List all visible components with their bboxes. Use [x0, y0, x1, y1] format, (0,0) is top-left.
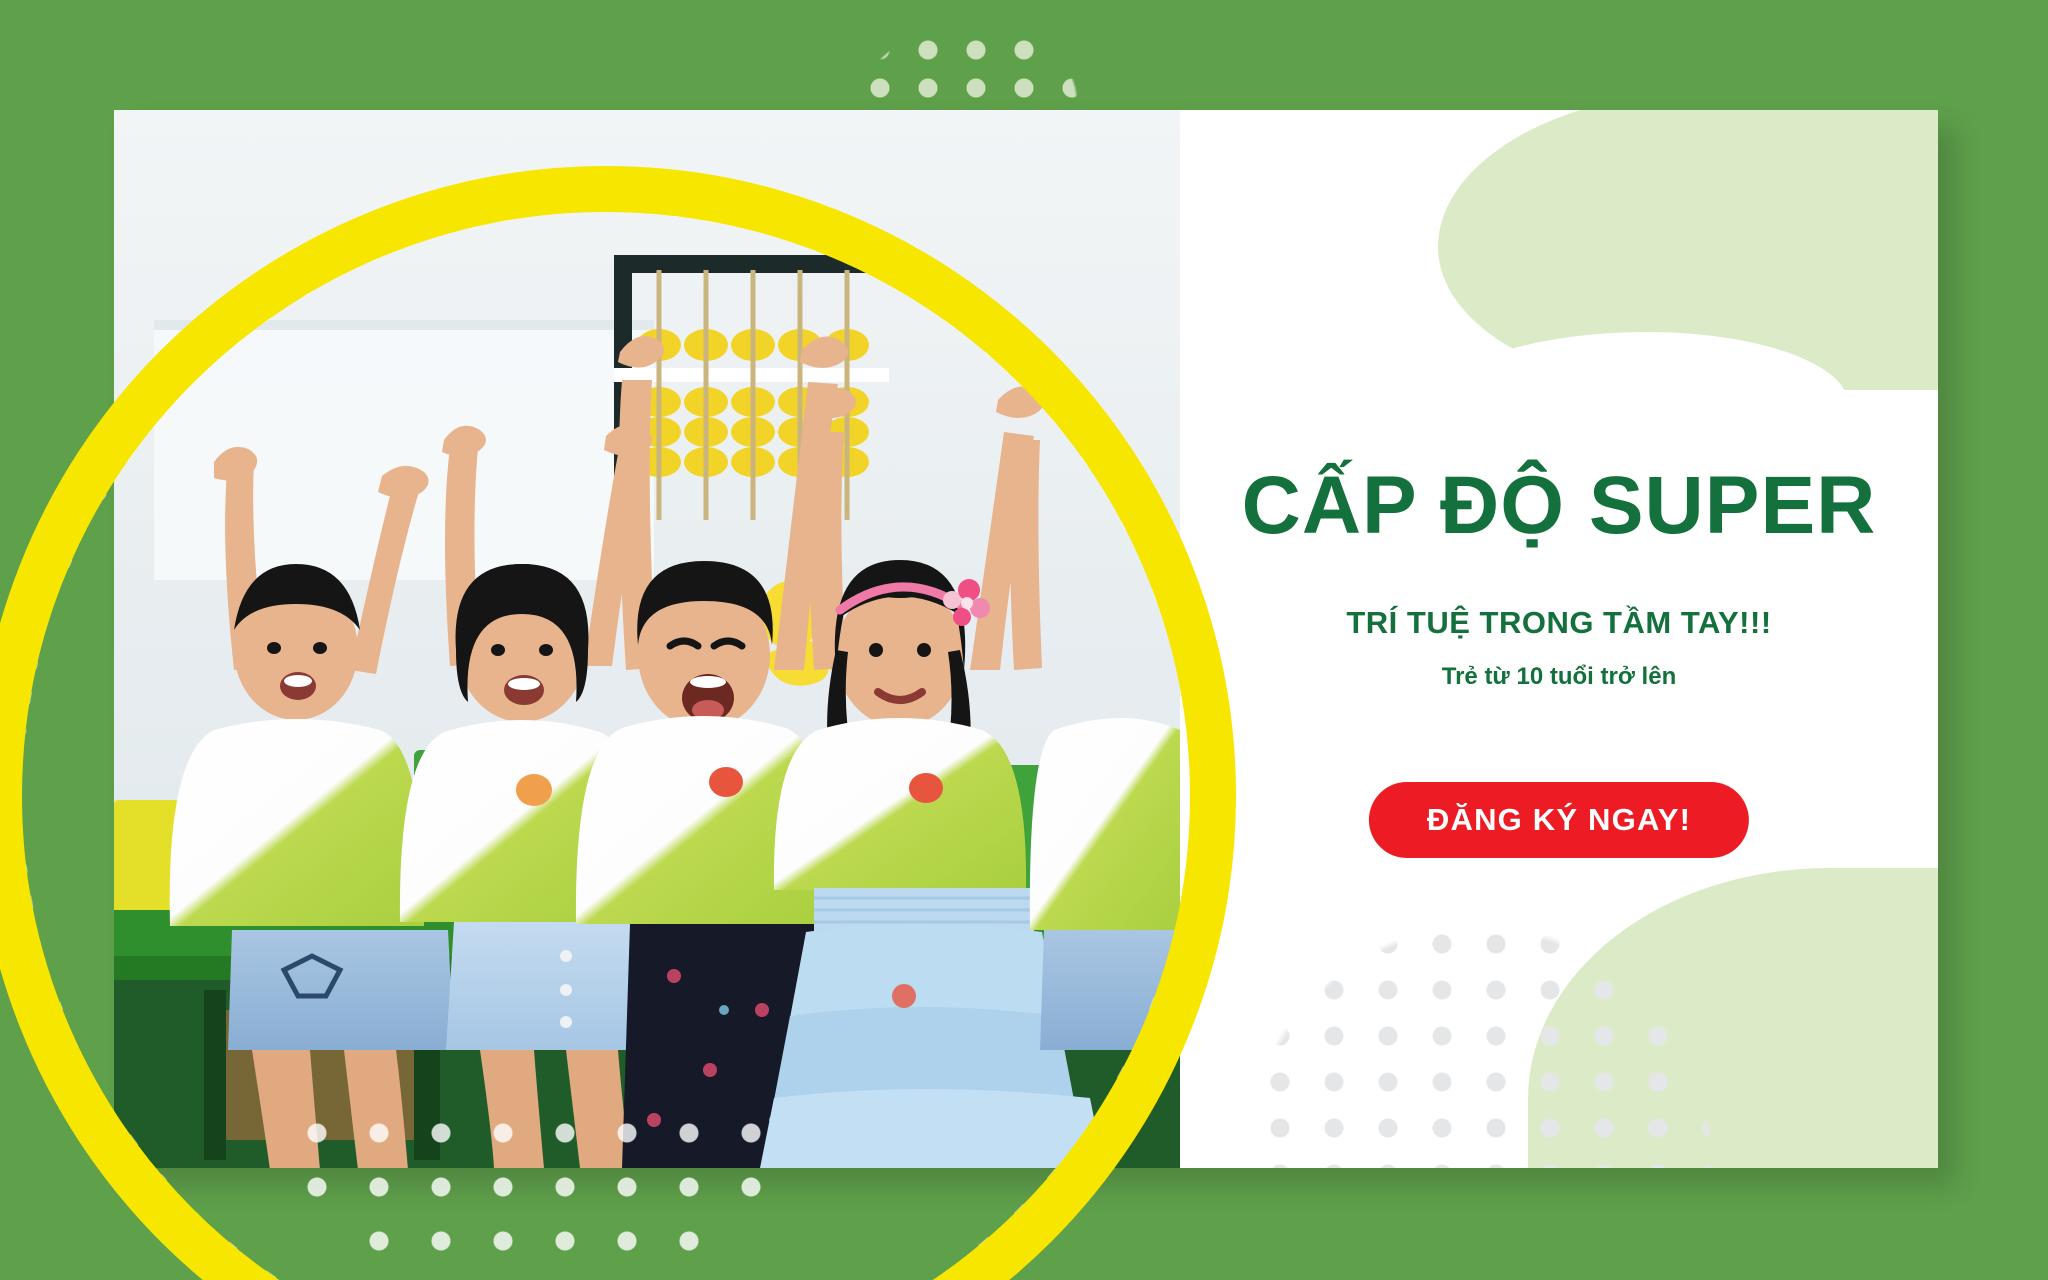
hero-photo-illustration	[114, 110, 1180, 1168]
promo-content: CẤP ĐỘ SUPER TRÍ TUỆ TRONG TẦM TAY!!! Tr…	[1180, 110, 1938, 1168]
register-now-button[interactable]: ĐĂNG KÝ NGAY!	[1369, 782, 1749, 858]
promo-card: CẤP ĐỘ SUPER TRÍ TUỆ TRONG TẦM TAY!!! Tr…	[114, 110, 1938, 1168]
top-dot-pattern-icon	[820, 0, 1120, 100]
page-title: CẤP ĐỘ SUPER	[1180, 465, 1938, 547]
banner-stage: CẤP ĐỘ SUPER TRÍ TUỆ TRONG TẦM TAY!!! Tr…	[0, 0, 2048, 1280]
hero-photo	[114, 110, 1180, 1168]
subheadline: TRÍ TUỆ TRONG TẦM TAY!!!	[1180, 605, 1938, 641]
age-requirement-note: Trẻ từ 10 tuổi trở lên	[1180, 663, 1938, 691]
